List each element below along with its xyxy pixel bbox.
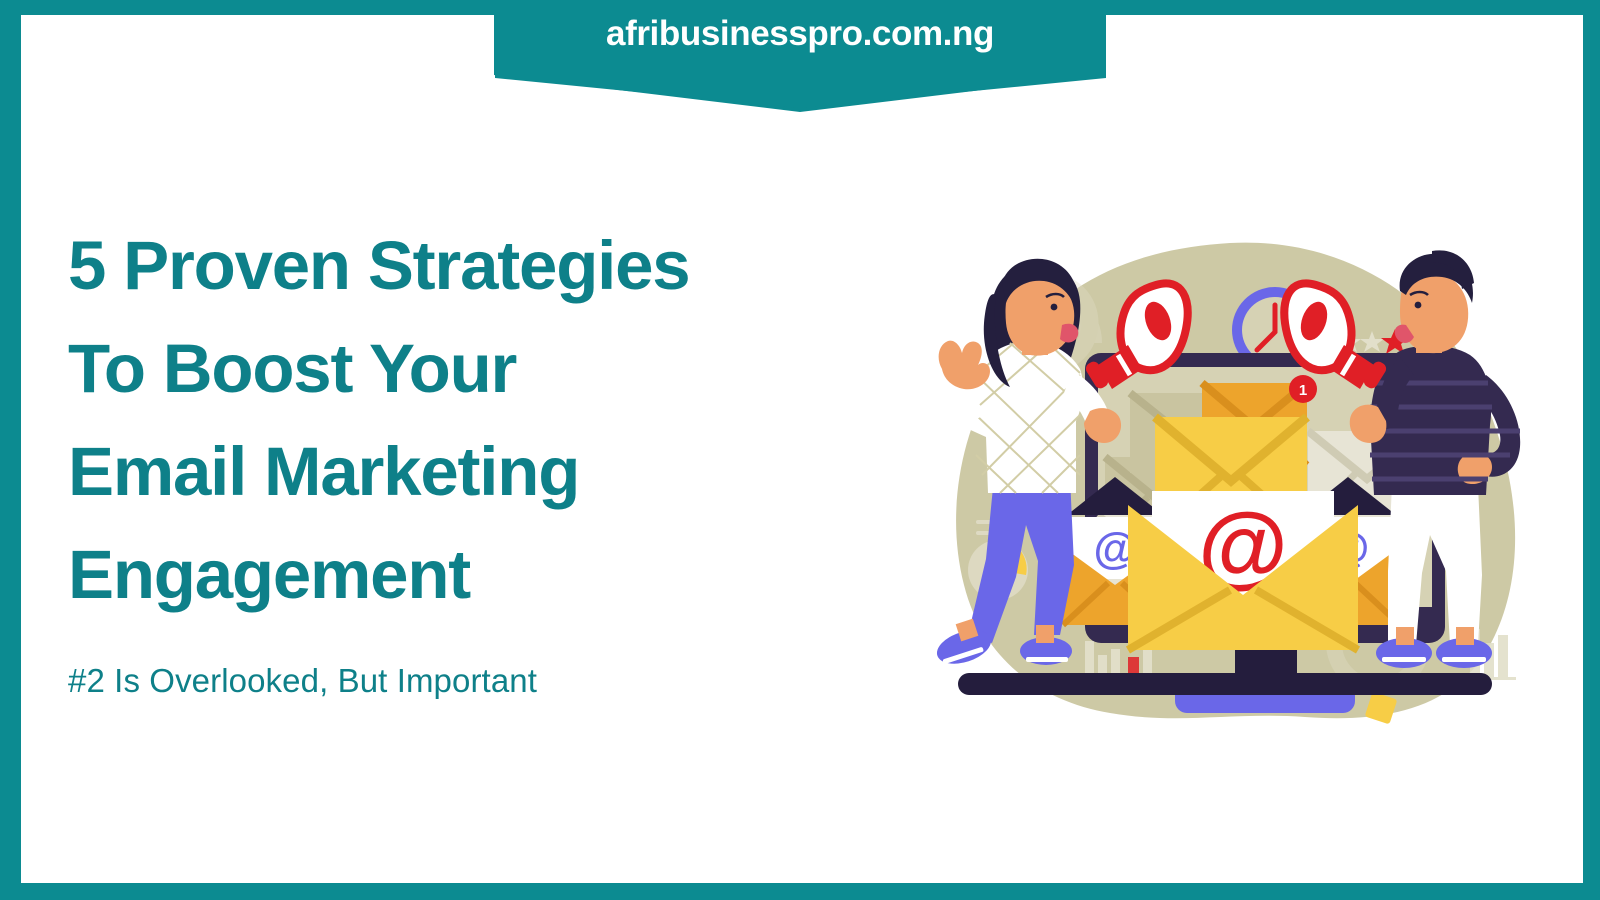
email-marketing-illustration: 1 @ @ (930, 225, 1550, 735)
woman-hand-left (939, 341, 990, 390)
ground-bar (958, 673, 1492, 695)
envelope-main-center: @ (1128, 491, 1358, 650)
site-url-ribbon: afribusinesspro.com.ng (480, 0, 1120, 112)
headline-line-1: 5 Proven Strategies (68, 214, 768, 317)
headline-line-3: Email Marketing (68, 420, 768, 523)
woman-eye (1051, 304, 1058, 311)
man-ankle-left (1396, 627, 1414, 645)
woman-ankle-right (1036, 625, 1054, 643)
ribbon-notch-right (1106, 0, 1120, 15)
frame-border-right (1583, 0, 1600, 900)
frame-border-left (0, 0, 21, 900)
man-eye (1415, 302, 1422, 309)
notification-count: 1 (1299, 382, 1307, 399)
frame-border-bottom (0, 883, 1600, 900)
man-ankle-right (1456, 627, 1474, 645)
headline-line-4: Engagement (68, 523, 768, 626)
page-subtitle: #2 Is Overlooked, But Important (68, 662, 537, 700)
page-title: 5 Proven Strategies To Boost Your Email … (68, 214, 768, 626)
headline-line-2: To Boost Your (68, 317, 768, 420)
site-url-text: afribusinesspro.com.ng (480, 14, 1120, 54)
poster-canvas: afribusinesspro.com.ng 5 Proven Strategi… (0, 0, 1600, 900)
